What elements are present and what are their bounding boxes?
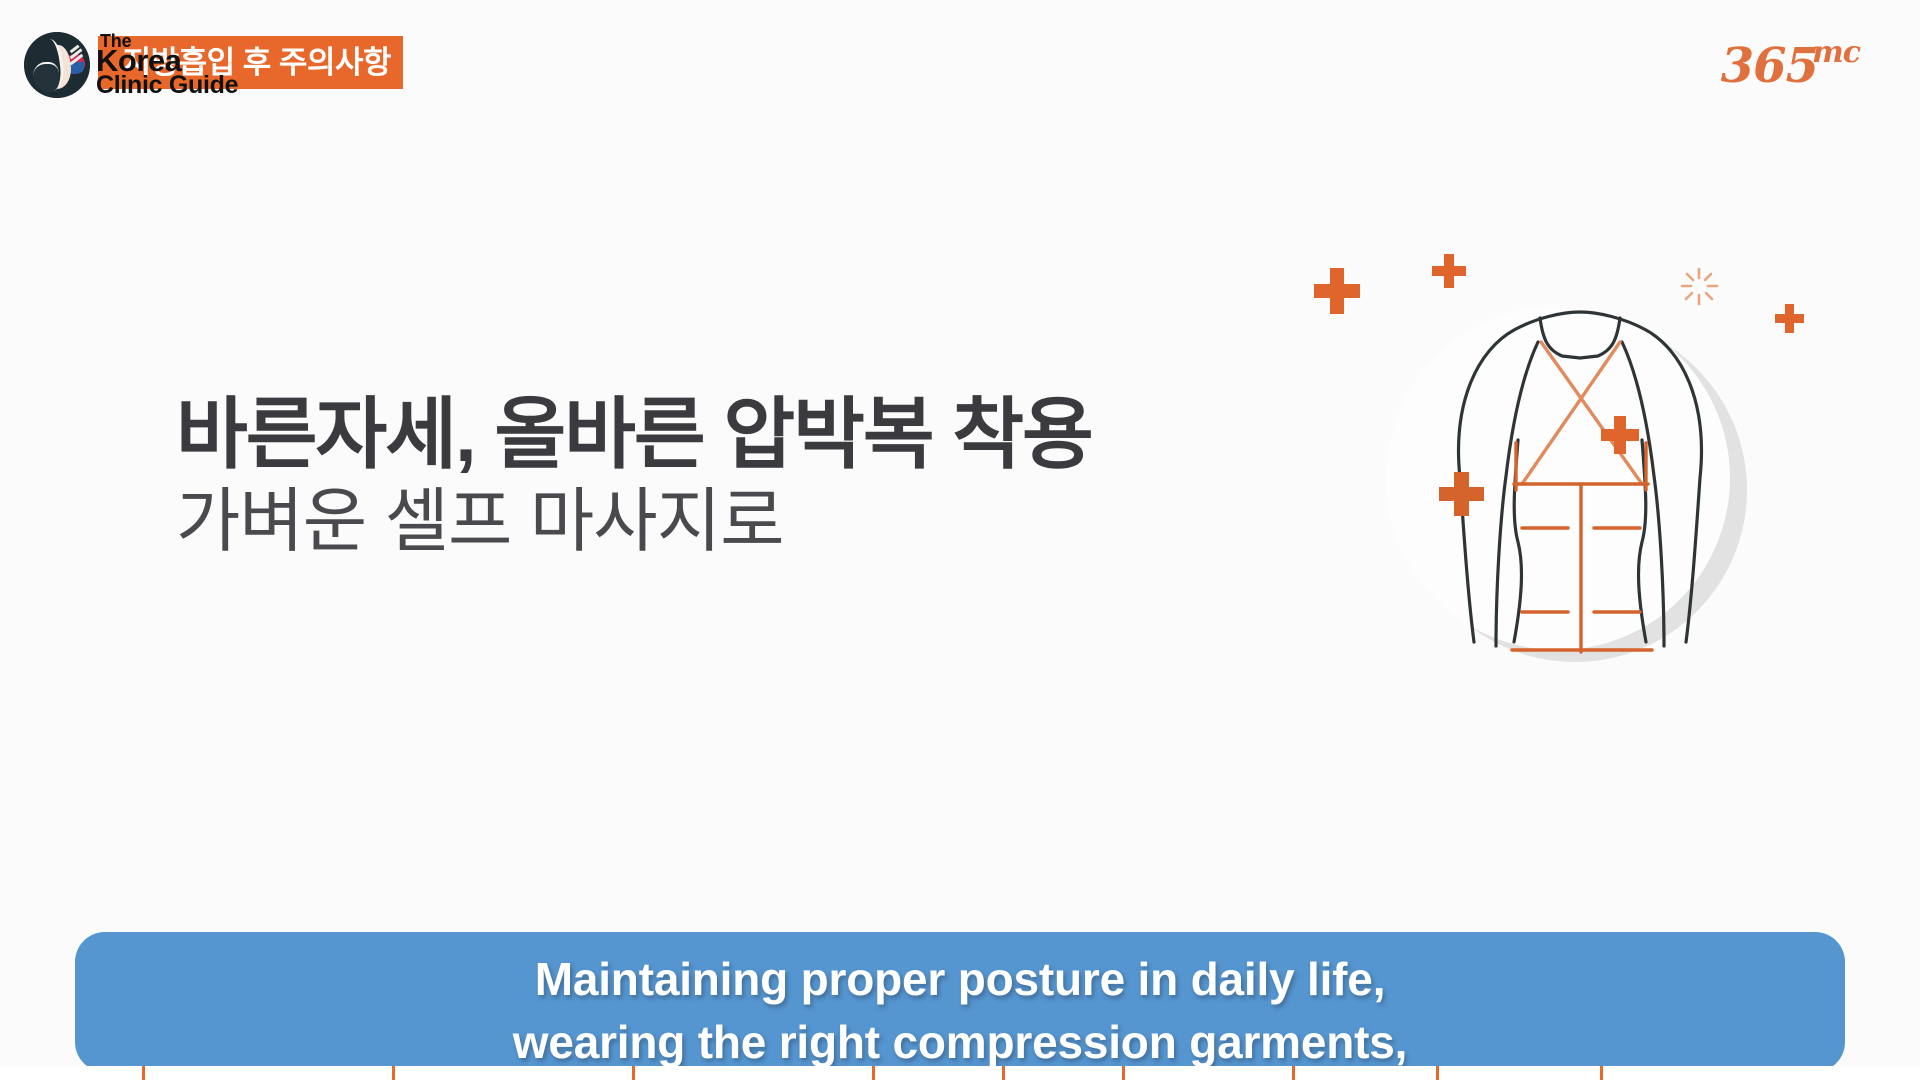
- channel-watermark-logo: The Korea Clinic Guide: [24, 28, 324, 102]
- brand-logo-365mc: 365 mc: [1721, 34, 1860, 90]
- watermark-line-clinic-guide: Clinic Guide: [96, 73, 238, 97]
- brand-logo-suffix: mc: [1812, 38, 1860, 68]
- plus-mark-small-top: [1432, 254, 1466, 288]
- headline-block: 바른자세, 올바른 압박복 착용 가벼운 셀프 마사지로: [176, 392, 1092, 561]
- caption-line-1: Maintaining proper posture in daily life…: [535, 948, 1386, 1011]
- chapter-marker-tick[interactable]: [1436, 1066, 1439, 1080]
- chapter-marker-tick[interactable]: [392, 1066, 395, 1080]
- plus-mark-right: [1775, 304, 1804, 333]
- video-chapter-markers[interactable]: [0, 1066, 1920, 1080]
- headline-line-1: 바른자세, 올바른 압박복 착용: [176, 392, 1092, 476]
- compression-garment-torso-illustration: [1300, 190, 1820, 710]
- badge-ring: [24, 32, 90, 98]
- sparkle-burst: [1682, 269, 1717, 304]
- plus-mark-large-left: [1314, 268, 1360, 314]
- woman-profile-icon: [24, 32, 90, 98]
- subtitle-caption-box: Maintaining proper posture in daily life…: [75, 932, 1845, 1072]
- chapter-marker-tick[interactable]: [1600, 1066, 1603, 1080]
- chapter-marker-tick[interactable]: [1002, 1066, 1005, 1080]
- caption-line-2: wearing the right compression garments,: [513, 1011, 1408, 1072]
- slide-canvas: 지방흡입 후 주의사항 The Korea Clinic Guide 365 m…: [0, 0, 1920, 1080]
- chapter-marker-tick[interactable]: [1122, 1066, 1125, 1080]
- circle-background: [1386, 306, 1730, 650]
- headline-line-2: 가벼운 셀프 마사지로: [176, 482, 1092, 560]
- chapter-marker-tick[interactable]: [872, 1066, 875, 1080]
- chapter-marker-tick[interactable]: [142, 1066, 145, 1080]
- chapter-marker-tick[interactable]: [632, 1066, 635, 1080]
- chapter-marker-tick[interactable]: [1292, 1066, 1295, 1080]
- brand-logo-numerals: 365: [1721, 42, 1818, 90]
- watermark-wordmark: The Korea Clinic Guide: [96, 33, 238, 97]
